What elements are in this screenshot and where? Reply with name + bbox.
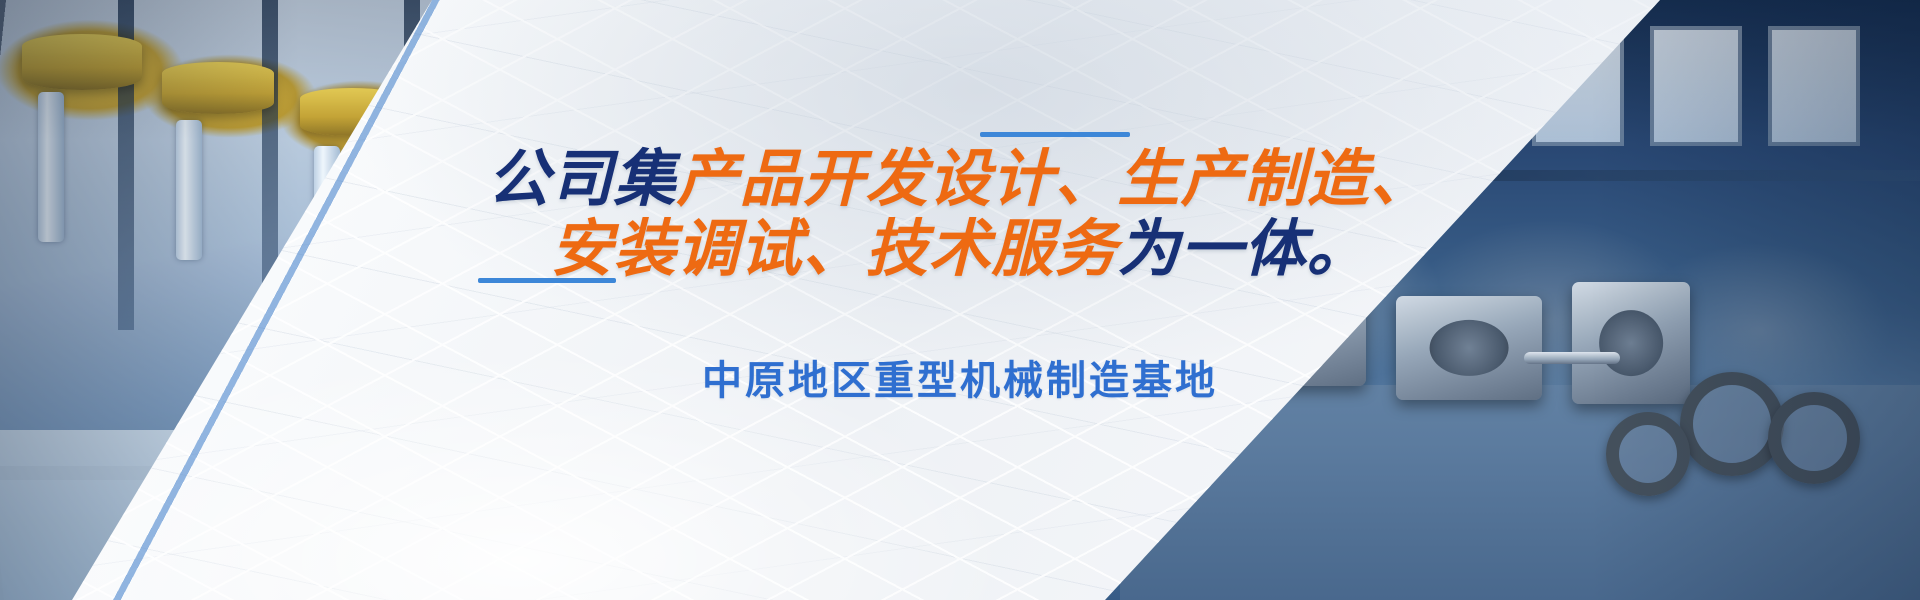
headline-line2-segment-orange: 安装调试、技术服务 — [550, 215, 1117, 284]
headline-line2-segment-navy: 为一体。 — [1118, 215, 1370, 284]
headline-line1-segment-orange: 产品开发设计、生产制造、 — [677, 145, 1433, 214]
headline-line-1: 公司集产品开发设计、生产制造、 — [0, 148, 1920, 212]
banner-content: 公司集产品开发设计、生产制造、 安装调试、技术服务为一体。 中原地区重型机械制造… — [0, 0, 1920, 600]
accent-bar-bottom — [478, 278, 616, 283]
accent-bar-top — [980, 132, 1130, 137]
hero-banner: 公司集产品开发设计、生产制造、 安装调试、技术服务为一体。 中原地区重型机械制造… — [0, 0, 1920, 600]
banner-subtitle: 中原地区重型机械制造基地 — [0, 348, 1920, 406]
headline-line-2: 安装调试、技术服务为一体。 — [0, 218, 1920, 282]
headline-line1-segment-navy: 公司集 — [487, 145, 676, 214]
